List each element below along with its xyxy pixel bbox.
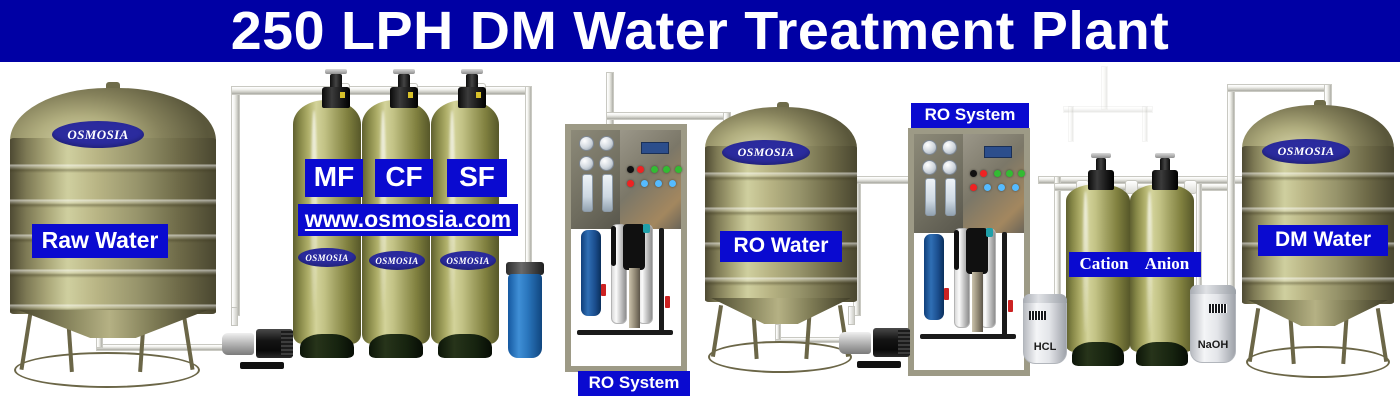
hp-cable (611, 226, 616, 266)
indicator-led (627, 180, 634, 187)
hp-pump-shaft (629, 268, 640, 328)
valve-handle-icon (1008, 300, 1013, 312)
valve-body (322, 87, 350, 108)
tds-meter-display (984, 146, 1012, 158)
indicator-led (655, 180, 662, 187)
filter-bowl (508, 274, 543, 358)
vessel-base (438, 334, 492, 358)
avatar: OSMOSIA (1262, 139, 1350, 164)
indicator-led (998, 184, 1005, 191)
flow-rotameter (925, 178, 936, 216)
tank-base-ring (1246, 346, 1390, 378)
indicator-led (1018, 170, 1025, 177)
ro-system-1-label: RO System (578, 371, 690, 396)
drum-label-strip (1029, 311, 1046, 320)
valve-body (458, 87, 486, 108)
pressure-gauge-icon (599, 136, 614, 151)
indicator-led (627, 166, 634, 173)
hp-pump-shaft (972, 272, 983, 332)
cation-label: Cation (1069, 252, 1139, 277)
pipe-riser-raw-to-mf (231, 86, 240, 316)
avatar: OSMOSIA (369, 251, 425, 270)
valve-indicator-icon (476, 92, 481, 98)
pump-base (857, 361, 902, 368)
indicator-led (1006, 170, 1013, 177)
drum-label-strip (1209, 304, 1226, 313)
drum-lip (1190, 285, 1236, 294)
pressure-gauge-icon (599, 156, 614, 171)
anion-label: Anion (1133, 252, 1201, 277)
mf-label: MF (305, 159, 363, 197)
ro-water-label: RO Water (720, 231, 842, 262)
tank-base-ring (708, 341, 852, 373)
flow-rotameter (582, 174, 593, 212)
sf-label: SF (447, 159, 507, 197)
indicator-led (970, 184, 977, 191)
valve-indicator-icon (340, 92, 345, 98)
sf-multiport-valve (458, 74, 486, 108)
product-banner-image: 250 LPH DM Water Treatment Plant OSMOSIA (0, 0, 1400, 400)
ro-system-2 (908, 128, 1030, 376)
tank-cone-bottom (18, 310, 208, 338)
hp-pump-motor (966, 228, 988, 274)
valve-body (1152, 170, 1178, 190)
pipe-ghost-vertical (1101, 66, 1108, 110)
pipe-drop-sf-to-ro1 (525, 86, 532, 281)
vessel-base (369, 334, 423, 358)
pipe-ghost-branch-left (1068, 106, 1074, 142)
mf-multiport-valve (322, 74, 350, 108)
pump-inlet-pipe (231, 307, 238, 325)
vessel-base (1072, 342, 1123, 366)
avatar: OSMOSIA (52, 121, 144, 148)
prefilter-vessel (581, 230, 601, 316)
pump-head (839, 332, 871, 354)
naoh-drum-label: NaOH (1190, 339, 1236, 351)
indicator-led (970, 170, 977, 177)
riser-pipe (659, 228, 664, 332)
pressure-gauge-icon (579, 156, 594, 171)
indicator-led (984, 184, 991, 191)
vessel-base (300, 334, 354, 358)
pipe-dm-arch-left (1227, 84, 1235, 314)
flow-rotameter (602, 174, 613, 212)
hcl-drum-label: HCL (1023, 341, 1067, 353)
raw-water-label: Raw Water (32, 224, 168, 258)
drum-body (1190, 285, 1236, 363)
anion-multiport-valve (1152, 158, 1178, 190)
pressure-gauge-icon (579, 136, 594, 151)
hcl-drum: HCL (1023, 294, 1067, 364)
prefilter-vessel (924, 234, 944, 320)
dm-water-label: DM Water (1258, 225, 1388, 256)
pump-cooling-fins (281, 331, 293, 356)
indicator-led (669, 180, 676, 187)
tank-cone-bottom (711, 298, 851, 324)
tank-base-ring (14, 352, 200, 388)
valve-handle-icon (944, 288, 949, 300)
riser-pipe (1002, 232, 1007, 336)
ro-system-1 (565, 124, 687, 372)
pressure-gauge-icon (922, 160, 937, 175)
indicator-led (1012, 184, 1019, 191)
hp-cable (954, 230, 959, 270)
naoh-drum: NaOH (1190, 285, 1236, 363)
dm-water-tank (1242, 100, 1394, 332)
valve-indicator-icon (408, 92, 413, 98)
hp-pump-motor (623, 224, 645, 270)
page-title: 250 LPH DM Water Treatment Plant (0, 0, 1400, 62)
ro-system-2-label: RO System (911, 103, 1029, 128)
pipe-rowater-to-ro2 (853, 176, 913, 184)
avatar: OSMOSIA (722, 140, 810, 165)
pressure-gauge-icon (942, 160, 957, 175)
indicator-led (651, 166, 658, 173)
pump-head (222, 333, 254, 355)
valve-body (1088, 170, 1114, 190)
pump-inlet-pipe (848, 306, 855, 324)
pump-connector (986, 228, 993, 237)
indicator-led (663, 166, 670, 173)
pipe-ghost-horizontal (1063, 106, 1153, 113)
micron-cartridge-filter (506, 262, 544, 358)
cf-label: CF (375, 159, 433, 197)
tds-meter-display (641, 142, 669, 154)
flow-rotameter (945, 178, 956, 216)
valve-handle-icon (601, 284, 606, 296)
indicator-led (637, 166, 644, 173)
pump-connector (643, 224, 650, 233)
pipe-header-mf-cf-sf (231, 86, 531, 95)
vessel-base (1136, 342, 1187, 366)
valve-body (390, 87, 418, 108)
raw-water-tank (10, 82, 216, 337)
pipe-ion-header-drop-left (1054, 176, 1061, 308)
ro-water-tank (705, 102, 857, 330)
indicator-led (994, 170, 1001, 177)
pump-base (240, 362, 285, 369)
indicator-led (641, 180, 648, 187)
pipe-ghost-branch-right (1142, 106, 1148, 142)
cf-multiport-valve (390, 74, 418, 108)
pipe-dm-arch-top (1227, 84, 1332, 92)
tank-cone-bottom (1248, 300, 1388, 326)
avatar: OSMOSIA (440, 251, 496, 270)
pipe-raw-tank-outlet (96, 344, 234, 351)
drum-body (1023, 294, 1067, 364)
indicator-led (980, 170, 987, 177)
website-banner-label[interactable]: www.osmosia.com (298, 204, 518, 236)
feed-pump-2 (838, 322, 910, 368)
avatar: OSMOSIA (298, 248, 356, 267)
pressure-gauge-icon (922, 140, 937, 155)
valve-handle-icon (665, 296, 670, 308)
cation-multiport-valve (1088, 158, 1114, 190)
feed-pump-1 (221, 323, 293, 369)
banner-header: 250 LPH DM Water Treatment Plant (0, 0, 1400, 62)
pressure-gauge-icon (942, 140, 957, 155)
indicator-led (675, 166, 682, 173)
tank-shell (705, 146, 857, 302)
drum-lip (1023, 294, 1067, 303)
pump-cooling-fins (898, 330, 910, 355)
